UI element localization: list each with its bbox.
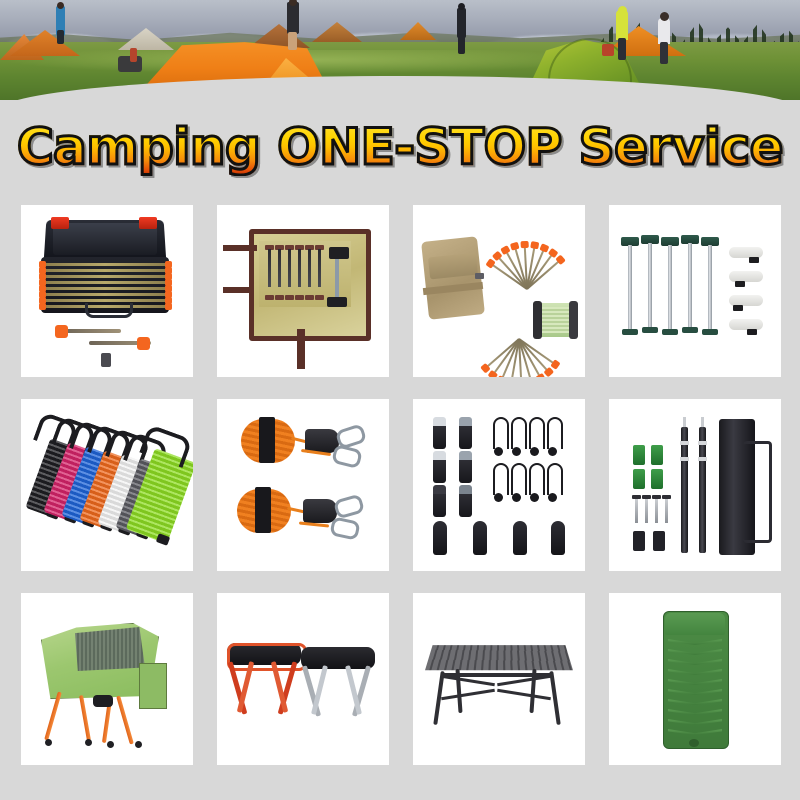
page-title-container: Camping ONE-STOP Service [0,116,800,178]
folding-camp-stools-image [223,599,383,759]
tent-peg-roll-up-bag-image [223,211,383,371]
orange-rope-ratchet-pulley-image [223,405,383,565]
product-cell-steel-t-stakes-guy-ropes[interactable] [609,205,781,377]
camper-black-shirt [287,2,299,34]
camper-dark-head [458,3,465,10]
product-cell-tent-peg-roll-up-bag[interactable] [217,205,389,377]
camp-kettle [130,48,137,62]
product-cell-folding-camp-stools[interactable] [217,593,389,765]
product-cell-colored-guy-line-bundles[interactable] [21,399,193,571]
telescoping-tarp-poles-image [615,405,775,565]
product-cell-inflatable-sleeping-pad[interactable] [609,593,781,765]
banner-spacer [0,100,800,114]
camper-dark-standing [457,8,466,38]
camper-blue-head [57,2,64,9]
camping-banner-photo [0,0,800,100]
product-grid [21,205,781,777]
camper-blue-legs [57,30,64,44]
camper-white-jacket [658,18,670,44]
camper-white-head [660,12,669,21]
canvas-bag-stakes-rope-spool-image [419,211,579,371]
tarp-clips-ball-bungees-image [419,405,579,565]
stake-fan-upper [483,241,569,289]
product-collage-page: Camping ONE-STOP Service [0,0,800,800]
camper-yellow-hood [618,6,627,15]
folding-camp-chair-image [27,599,187,759]
product-cell-canvas-bag-stakes-rope-spool[interactable] [413,205,585,377]
steel-t-stakes-guy-ropes-image [615,211,775,371]
camper-yellow-legs [618,38,626,60]
tent-stake-set-in-case-image [27,211,187,371]
inflatable-sleeping-pad-image [615,599,775,759]
product-cell-tent-stake-set-in-case[interactable] [21,205,193,377]
camper-black-legs [288,32,297,50]
product-cell-tarp-clips-ball-bungees[interactable] [413,399,585,571]
camp-chair-red [602,44,614,56]
product-cell-folding-camp-chair[interactable] [21,593,193,765]
camper-dark-legs [458,36,465,54]
page-title: Camping ONE-STOP Service [17,119,783,175]
roll-top-camp-table-image [419,599,579,759]
camper-white-legs [660,42,668,64]
product-cell-telescoping-tarp-poles[interactable] [609,399,781,571]
product-cell-orange-rope-ratchet-pulley[interactable] [217,399,389,571]
product-cell-roll-top-camp-table[interactable] [413,593,585,765]
colored-guy-line-bundles-image [27,405,187,565]
